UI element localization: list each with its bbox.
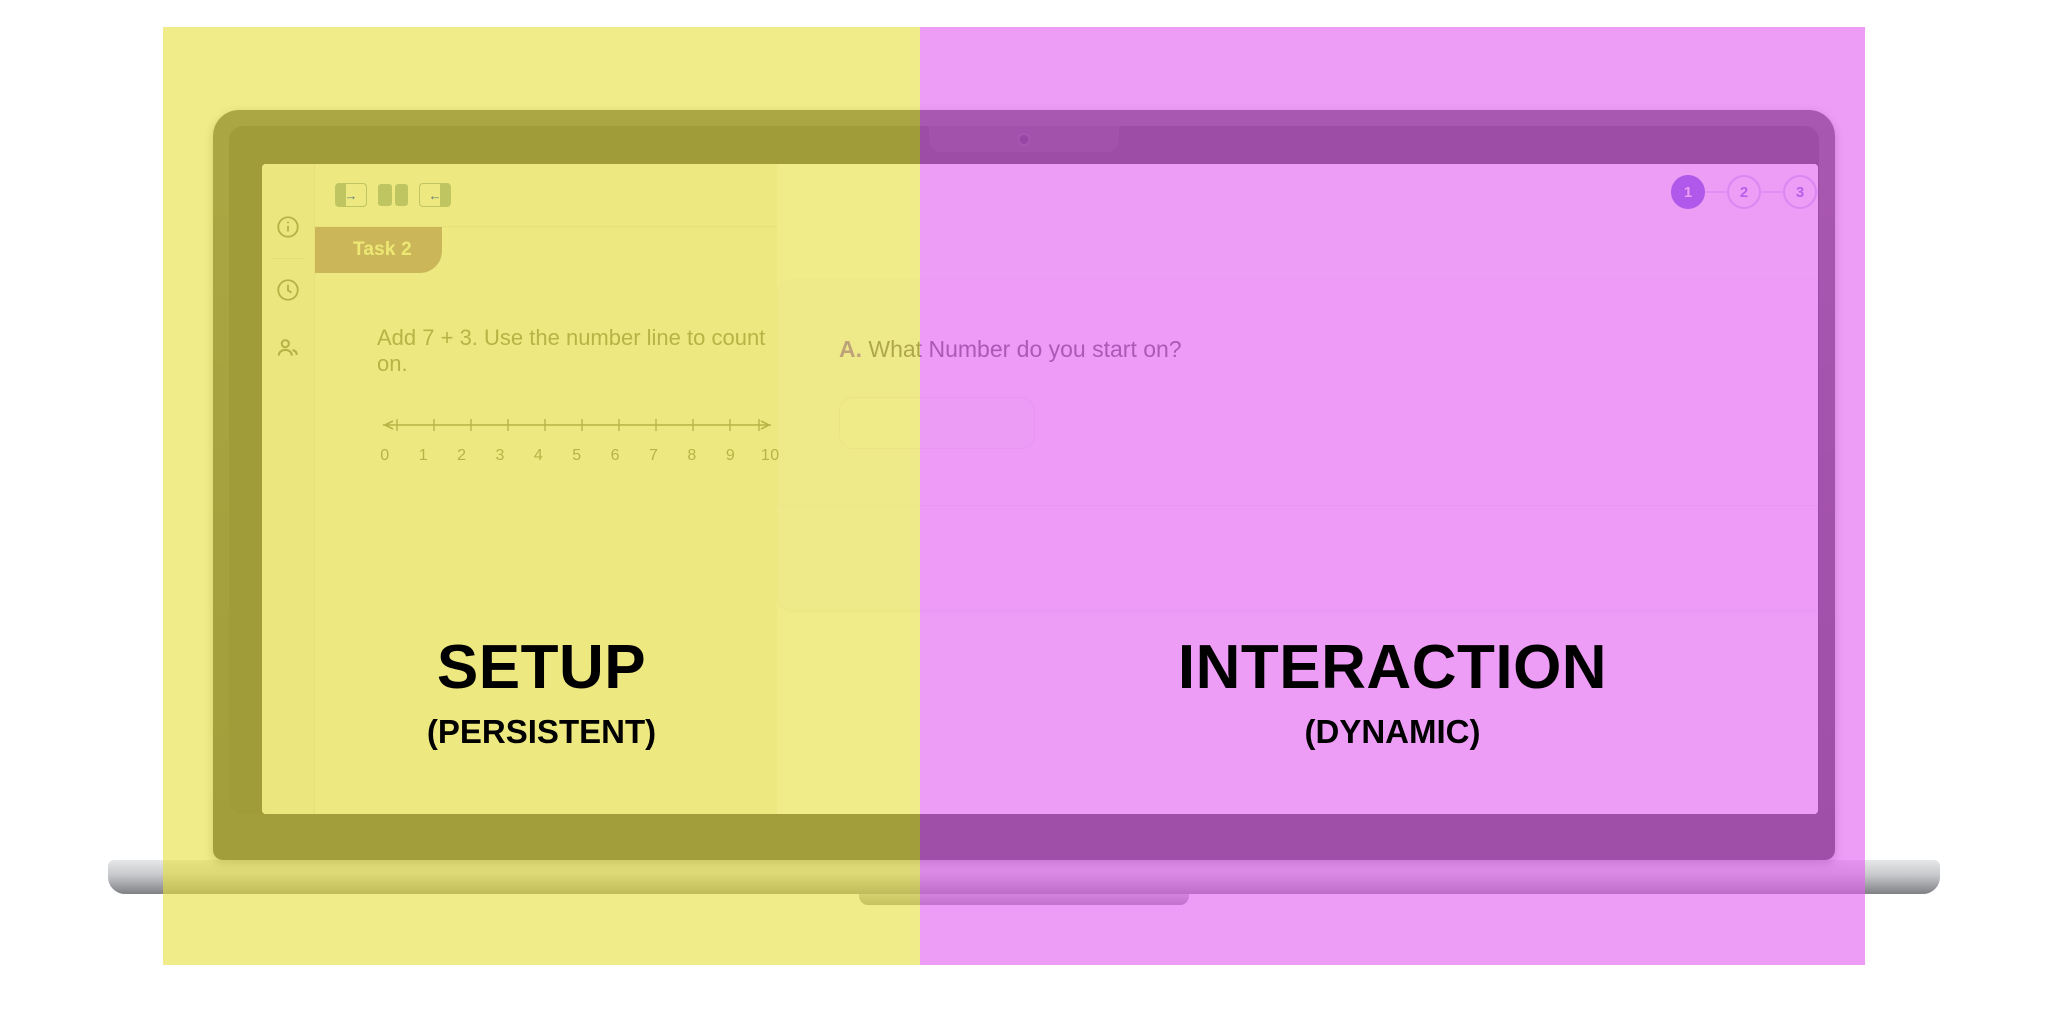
laptop-base bbox=[108, 860, 1940, 894]
clock-icon bbox=[275, 277, 301, 303]
tick-label: 7 bbox=[646, 447, 662, 465]
task-prompt: Add 7 + 3. Use the number line to count … bbox=[377, 325, 777, 377]
webcam-notch bbox=[929, 126, 1119, 152]
question-line: A. What Number do you start on? bbox=[839, 336, 1818, 363]
panel-fill bbox=[440, 184, 450, 206]
tick-label: 9 bbox=[723, 447, 739, 465]
step-label: 1 bbox=[1684, 184, 1692, 201]
step-1[interactable]: 1 bbox=[1671, 175, 1705, 209]
number-line-axis bbox=[377, 415, 777, 435]
setup-body: → ← bbox=[315, 164, 777, 814]
tick-label: 3 bbox=[492, 447, 508, 465]
question-text: What Number do you start on? bbox=[868, 336, 1181, 362]
step-connector bbox=[1817, 191, 1818, 193]
layout-left-expand-button[interactable]: → bbox=[335, 183, 367, 207]
laptop-base-lip bbox=[859, 894, 1189, 905]
people-icon bbox=[275, 335, 301, 361]
sidebar-item-students[interactable] bbox=[262, 319, 314, 377]
arrow-right-icon: → bbox=[345, 189, 358, 202]
step-connector bbox=[1705, 191, 1727, 193]
info-icon bbox=[275, 214, 301, 240]
answer-input[interactable] bbox=[839, 397, 1035, 449]
sidebar-rail bbox=[262, 164, 315, 814]
step-label: 2 bbox=[1740, 184, 1748, 201]
step-connector bbox=[1761, 191, 1783, 193]
tick-label: 2 bbox=[454, 447, 470, 465]
tick-label: 6 bbox=[607, 447, 623, 465]
laptop-mockup: → ← bbox=[0, 0, 2048, 1024]
step-3[interactable]: 3 bbox=[1783, 175, 1817, 209]
task-tab-label: Task 2 bbox=[353, 239, 412, 261]
step-2[interactable]: 2 bbox=[1727, 175, 1761, 209]
tick-label: 4 bbox=[531, 447, 547, 465]
question-card-footer: Save bbox=[777, 505, 1818, 610]
task-tab[interactable]: Task 2 bbox=[315, 227, 442, 273]
tick-label: 10 bbox=[761, 447, 777, 465]
interaction-pane: 1 2 3 4 bbox=[777, 164, 1818, 814]
webcam-icon bbox=[1020, 135, 1029, 144]
number-line: 0 1 2 3 4 5 6 7 8 9 10 bbox=[377, 415, 777, 465]
interaction-body: A. What Number do you start on? Save bbox=[777, 220, 1818, 814]
layout-split-button[interactable] bbox=[378, 184, 408, 206]
split-right-block bbox=[395, 184, 409, 206]
tick-label: 1 bbox=[415, 447, 431, 465]
layout-toolbar: → ← bbox=[315, 164, 777, 227]
tick-label: 0 bbox=[377, 447, 393, 465]
sidebar-divider bbox=[271, 258, 305, 259]
tick-label: 5 bbox=[569, 447, 585, 465]
question-card: A. What Number do you start on? Save bbox=[777, 280, 1818, 610]
sidebar-item-history[interactable] bbox=[262, 261, 314, 319]
layout-right-expand-button[interactable]: ← bbox=[419, 183, 451, 207]
screen: → ← bbox=[262, 164, 1818, 814]
step-label: 3 bbox=[1796, 184, 1804, 201]
tick-label: 8 bbox=[684, 447, 700, 465]
step-indicator: 1 2 3 4 bbox=[1671, 175, 1818, 209]
question-card-body: A. What Number do you start on? bbox=[777, 280, 1818, 505]
setup-pane: → ← bbox=[262, 164, 777, 814]
interaction-topbar: 1 2 3 4 bbox=[777, 164, 1818, 220]
question-label: A. bbox=[839, 336, 862, 362]
number-line-ticks: 0 1 2 3 4 5 6 7 8 9 10 bbox=[377, 447, 777, 465]
laptop-lid: → ← bbox=[213, 110, 1835, 860]
task-tab-row: Task 2 bbox=[315, 227, 777, 273]
split-left-block bbox=[378, 184, 392, 206]
sidebar-item-info[interactable] bbox=[262, 198, 314, 256]
laptop-bezel: → ← bbox=[229, 126, 1819, 814]
arrow-left-icon: ← bbox=[429, 189, 442, 202]
